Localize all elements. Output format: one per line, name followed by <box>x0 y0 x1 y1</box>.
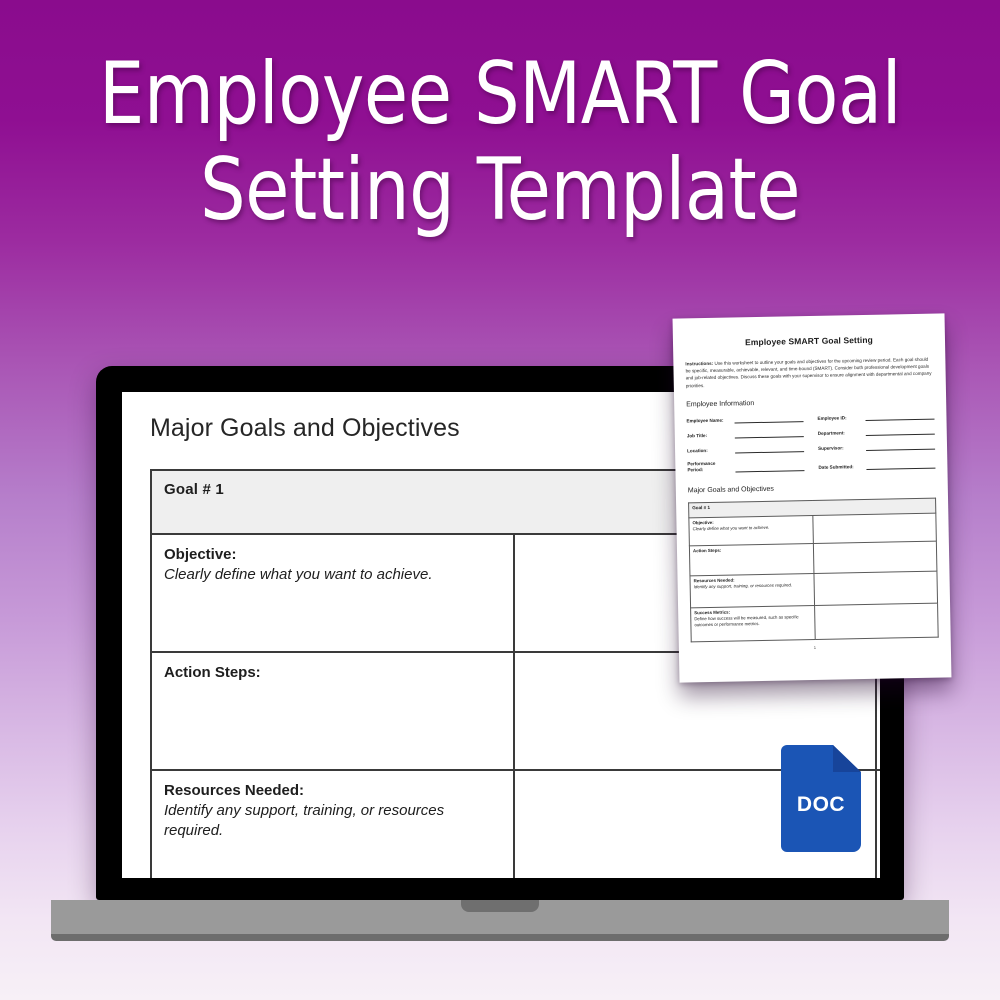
screen-row-resources-label: Resources Needed: Identify any support, … <box>151 770 514 878</box>
field-input-rule[interactable] <box>866 426 935 435</box>
field-performance-period[interactable]: Performance Period: <box>687 459 804 473</box>
field-input-rule[interactable] <box>866 460 935 469</box>
screen-row-resources-extra[interactable] <box>876 770 880 878</box>
field-label: Location: <box>687 447 731 454</box>
paper-goal-table: Goal # 1 Objective: Clearly define what … <box>688 497 939 642</box>
paper-page-number: 1 <box>691 642 939 652</box>
field-location[interactable]: Location: <box>687 444 804 454</box>
paper-document-preview: Employee SMART Goal Setting Instructions… <box>673 313 952 682</box>
table-row: Success Metrics: Define how success will… <box>691 603 939 642</box>
doc-file-icon-svg: DOC <box>781 745 861 852</box>
row-hint: Identify any support, training, or resou… <box>164 801 501 841</box>
field-employee-id[interactable]: Employee ID: <box>817 411 934 421</box>
doc-file-label: DOC <box>797 793 845 816</box>
paper-row-action-label: Action Steps: <box>689 543 813 575</box>
field-label: Employee Name: <box>686 417 730 424</box>
employee-information-fields: Employee Name: Employee ID: Job Title: D… <box>686 411 935 473</box>
field-label: Performance Period: <box>687 460 731 473</box>
paper-row-action-input[interactable] <box>813 541 937 573</box>
screen-row-objective-label: Objective: Clearly define what you want … <box>151 534 514 652</box>
doc-file-fold <box>833 745 861 772</box>
row-hint: Clearly define what you want to achieve. <box>164 565 501 585</box>
doc-file-icon[interactable]: DOC <box>781 745 861 852</box>
employee-information-heading: Employee Information <box>686 396 934 408</box>
paper-instructions: Instructions: Use this worksheet to outl… <box>685 356 934 390</box>
screen-row-action-label: Action Steps: <box>151 652 514 770</box>
field-date-submitted[interactable]: Date Submitted: <box>818 456 935 470</box>
row-hint: Clearly define what you want to achieve. <box>693 524 810 532</box>
field-label: Employee ID: <box>817 415 861 422</box>
field-input-rule[interactable] <box>735 444 804 453</box>
table-row: Resources Needed: Identify any support, … <box>690 571 938 608</box>
field-label: Job Title: <box>687 432 731 439</box>
title-line-2: Setting Template <box>35 142 965 238</box>
field-input-rule[interactable] <box>865 411 934 420</box>
row-hint: Define how success will be measured, suc… <box>694 614 811 628</box>
field-supervisor[interactable]: Supervisor: <box>818 441 935 451</box>
field-label: Date Submitted: <box>818 464 862 471</box>
row-hint: Identify any support, training, or resou… <box>694 582 811 590</box>
paper-row-resources-label: Resources Needed: Identify any support, … <box>690 573 814 607</box>
field-label: Department: <box>818 430 862 437</box>
row-label: Action Steps: <box>164 663 501 683</box>
paper-row-resources-input[interactable] <box>813 571 937 605</box>
paper-row-objective-label: Objective: Clearly define what you want … <box>689 515 813 545</box>
row-label: Action Steps: <box>693 546 810 554</box>
field-job-title[interactable]: Job Title: <box>687 429 804 439</box>
page-title: Employee SMART Goal Setting Template <box>0 46 1000 238</box>
field-input-rule[interactable] <box>866 441 935 450</box>
laptop-base-notch <box>461 900 539 912</box>
field-input-rule[interactable] <box>735 429 804 438</box>
table-row: Resources Needed: Identify any support, … <box>151 770 880 878</box>
row-label: Resources Needed: <box>164 781 501 801</box>
row-label: Objective: <box>164 545 501 565</box>
paper-goals-heading: Major Goals and Objectives <box>688 482 936 494</box>
field-employee-name[interactable]: Employee Name: <box>686 414 803 424</box>
title-line-1: Employee SMART Goal <box>35 46 965 142</box>
paper-title: Employee SMART Goal Setting <box>685 334 933 349</box>
field-input-rule[interactable] <box>734 414 803 423</box>
paper-row-metrics-input[interactable] <box>814 603 938 639</box>
instructions-body: Use this worksheet to outline your goals… <box>685 357 931 388</box>
table-row: Action Steps: <box>689 541 937 576</box>
field-input-rule[interactable] <box>735 463 804 472</box>
poster-canvas: Employee SMART Goal Setting Template Maj… <box>0 0 1000 1000</box>
paper-row-metrics-label: Success Metrics: Define how success will… <box>691 605 815 641</box>
field-department[interactable]: Department: <box>818 426 935 436</box>
laptop-base <box>51 900 949 941</box>
field-label: Supervisor: <box>818 445 862 452</box>
paper-row-objective-input[interactable] <box>812 513 936 543</box>
instructions-label: Instructions: <box>685 361 713 367</box>
